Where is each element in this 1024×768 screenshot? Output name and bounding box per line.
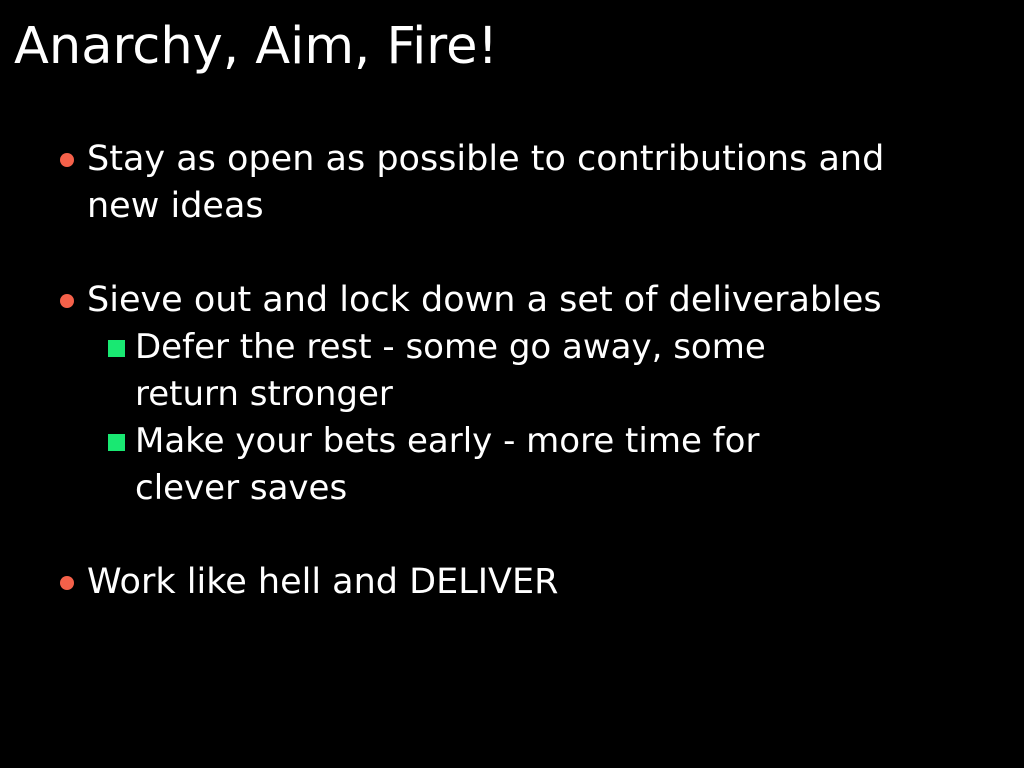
list-item-label: Sieve out and lock down a set of deliver… <box>87 277 967 324</box>
sub-list-item-label: Defer the rest - some go away, some retu… <box>135 324 855 418</box>
page-title: Anarchy, Aim, Fire! <box>14 16 498 78</box>
square-bullet-icon <box>108 340 125 357</box>
slide-body: Stay as open as possible to contribution… <box>0 136 1024 606</box>
presentation-slide: Anarchy, Aim, Fire! Stay as open as poss… <box>0 0 1024 768</box>
list-item[interactable]: Sieve out and lock down a set of deliver… <box>0 277 1024 324</box>
round-bullet-icon <box>60 576 74 590</box>
list-item-label: Stay as open as possible to contribution… <box>87 136 967 230</box>
square-bullet-icon <box>108 434 125 451</box>
list-item[interactable]: Stay as open as possible to contribution… <box>0 136 1024 230</box>
paragraph-spacer <box>0 230 1024 277</box>
round-bullet-icon <box>60 294 74 308</box>
list-item[interactable]: Work like hell and DELIVER <box>0 559 1024 606</box>
list-item-label: Work like hell and DELIVER <box>87 559 967 606</box>
paragraph-spacer <box>0 512 1024 559</box>
sub-list-item-label: Make your bets early - more time for cle… <box>135 418 855 512</box>
round-bullet-icon <box>60 153 74 167</box>
sub-list-item[interactable]: Defer the rest - some go away, some retu… <box>0 324 1024 418</box>
sub-list-item[interactable]: Make your bets early - more time for cle… <box>0 418 1024 512</box>
